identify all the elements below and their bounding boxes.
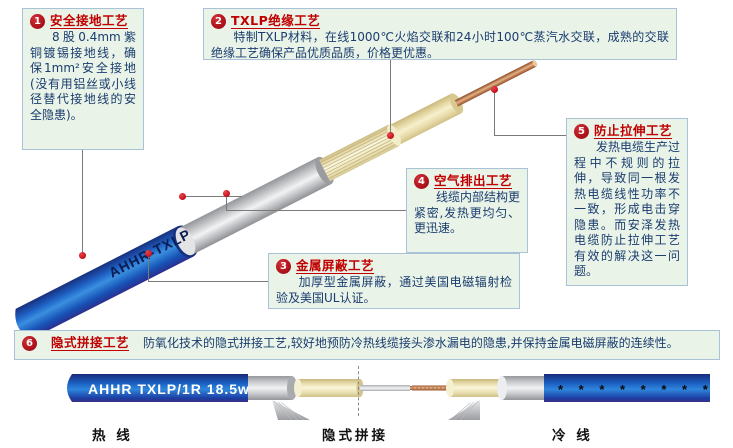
box-3-title: 金属屏蔽工艺	[296, 259, 374, 274]
box-5-text: 发热电缆生产过程中不规则的拉伸，导致同一根发热电缆线性功率不一致，形成电击穿隐患…	[574, 140, 680, 280]
annotation-box-3: 3 金属屏蔽工艺 加厚型金属屏蔽，通过美国电磁辐射检验及美国UL认证。	[268, 253, 520, 309]
badge-5: 5	[574, 124, 589, 139]
badge-4: 4	[414, 174, 429, 189]
leader-5b	[494, 89, 495, 136]
leader-dot-3	[145, 250, 152, 257]
leader-dot-4	[223, 190, 230, 197]
badge-3: 3	[276, 259, 291, 274]
badge-1: 1	[30, 14, 45, 29]
annotation-box-5: 5 防止拉伸工艺 发热电缆生产过程中不规则的拉伸，导致同一根发热电缆线性功率不一…	[566, 118, 688, 286]
box-2-text: 特制TXLP材料，在线1000℃火焰交联和24小时100℃蒸汽水交联，成熟的交联…	[211, 30, 669, 61]
leader-2	[390, 60, 391, 135]
leader-1	[82, 150, 83, 255]
leader-3b	[148, 253, 149, 282]
bottom-cable-illustration: AHHR TXLP/1R 18.5w/m * * * * * * * * * *	[10, 368, 723, 420]
box-1-title: 安全接地工艺	[50, 14, 128, 29]
cable-marking-bottom: AHHR TXLP/1R 18.5w/m	[88, 381, 268, 397]
box-3-body: 加厚型金属屏蔽，通过美国电磁辐射检验及美国UL认证。	[276, 275, 512, 305]
label-cold-line: 冷 线	[552, 424, 593, 444]
box-2-body: 特制TXLP材料，在线1000℃火焰交联和24小时100℃蒸汽水交联，成熟的交联…	[211, 30, 669, 60]
box-1-body: 8股0.4mm紫铜镀锡接地线，确保1mm²安全接地 (没有用铝丝或小线径替代接地…	[30, 30, 136, 122]
box-2-title: TXLP绝缘工艺	[231, 14, 320, 29]
leader-dot-1	[79, 252, 86, 259]
leader-dot-5	[179, 193, 186, 200]
leader-3c	[182, 196, 242, 197]
annotation-box-2: 2 TXLP绝缘工艺 特制TXLP材料，在线1000℃火焰交联和24小时100℃…	[203, 8, 677, 60]
box-1-header: 1 安全接地工艺	[30, 14, 136, 29]
box-4-body: 线缆内部结构更紧密,发热更均匀、更迅速。	[414, 190, 520, 235]
box-3-header: 3 金属屏蔽工艺	[276, 259, 512, 274]
box-5-header: 5 防止拉伸工艺	[574, 124, 680, 139]
box-4-title: 空气排出工艺	[434, 174, 512, 189]
box-1-text: 8股0.4mm紫铜镀锡接地线，确保1mm²安全接地 (没有用铝丝或小线径替代接地…	[30, 30, 136, 123]
box-3-text: 加厚型金属屏蔽，通过美国电磁辐射检验及美国UL认证。	[276, 275, 512, 306]
badge-2: 2	[211, 14, 226, 29]
leader-dot-6	[491, 86, 498, 93]
box-6-header: 6 隐式拼接工艺 防氧化技术的隐式拼接工艺,较好地预防冷热线缆接头渗水漏电的隐患…	[22, 336, 712, 352]
leader-5a	[494, 135, 566, 136]
splice-guide-line	[358, 366, 359, 416]
label-splice: 隐式拼接	[322, 424, 388, 444]
leader-4a	[226, 210, 406, 211]
cable-marking-cold: * * * * * * * * * *	[558, 382, 723, 397]
box-4-text: 线缆内部结构更紧密,发热更均匀、更迅速。	[414, 190, 520, 237]
label-hot-line: 热 线	[92, 424, 133, 444]
box-4-header: 4 空气排出工艺	[414, 174, 520, 189]
box-5-body: 发热电缆生产过程中不规则的拉伸，导致同一根发热电缆线性功率不一致，形成电击穿隐患…	[574, 140, 680, 278]
box-6-title: 隐式拼接工艺	[51, 336, 129, 351]
annotation-box-4: 4 空气排出工艺 线缆内部结构更紧密,发热更均匀、更迅速。	[406, 168, 528, 253]
annotation-box-1: 1 安全接地工艺 8股0.4mm紫铜镀锡接地线，确保1mm²安全接地 (没有用铝…	[22, 8, 144, 150]
leader-dot-2	[387, 132, 394, 139]
diagram-stage: AHHR-TXLP 1 安全接地工艺 8股0.4mm紫铜镀锡接地线，确保1mm²…	[0, 0, 733, 448]
box-2-header: 2 TXLP绝缘工艺	[211, 14, 669, 29]
box-5-title: 防止拉伸工艺	[594, 124, 672, 139]
leader-3a	[148, 281, 268, 282]
annotation-box-6: 6 隐式拼接工艺 防氧化技术的隐式拼接工艺,较好地预防冷热线缆接头渗水漏电的隐患…	[14, 330, 720, 360]
box-6-body: 防氧化技术的隐式拼接工艺,较好地预防冷热线缆接头渗水漏电的隐患,并保持金属电磁屏…	[143, 336, 712, 352]
badge-6: 6	[22, 336, 37, 351]
